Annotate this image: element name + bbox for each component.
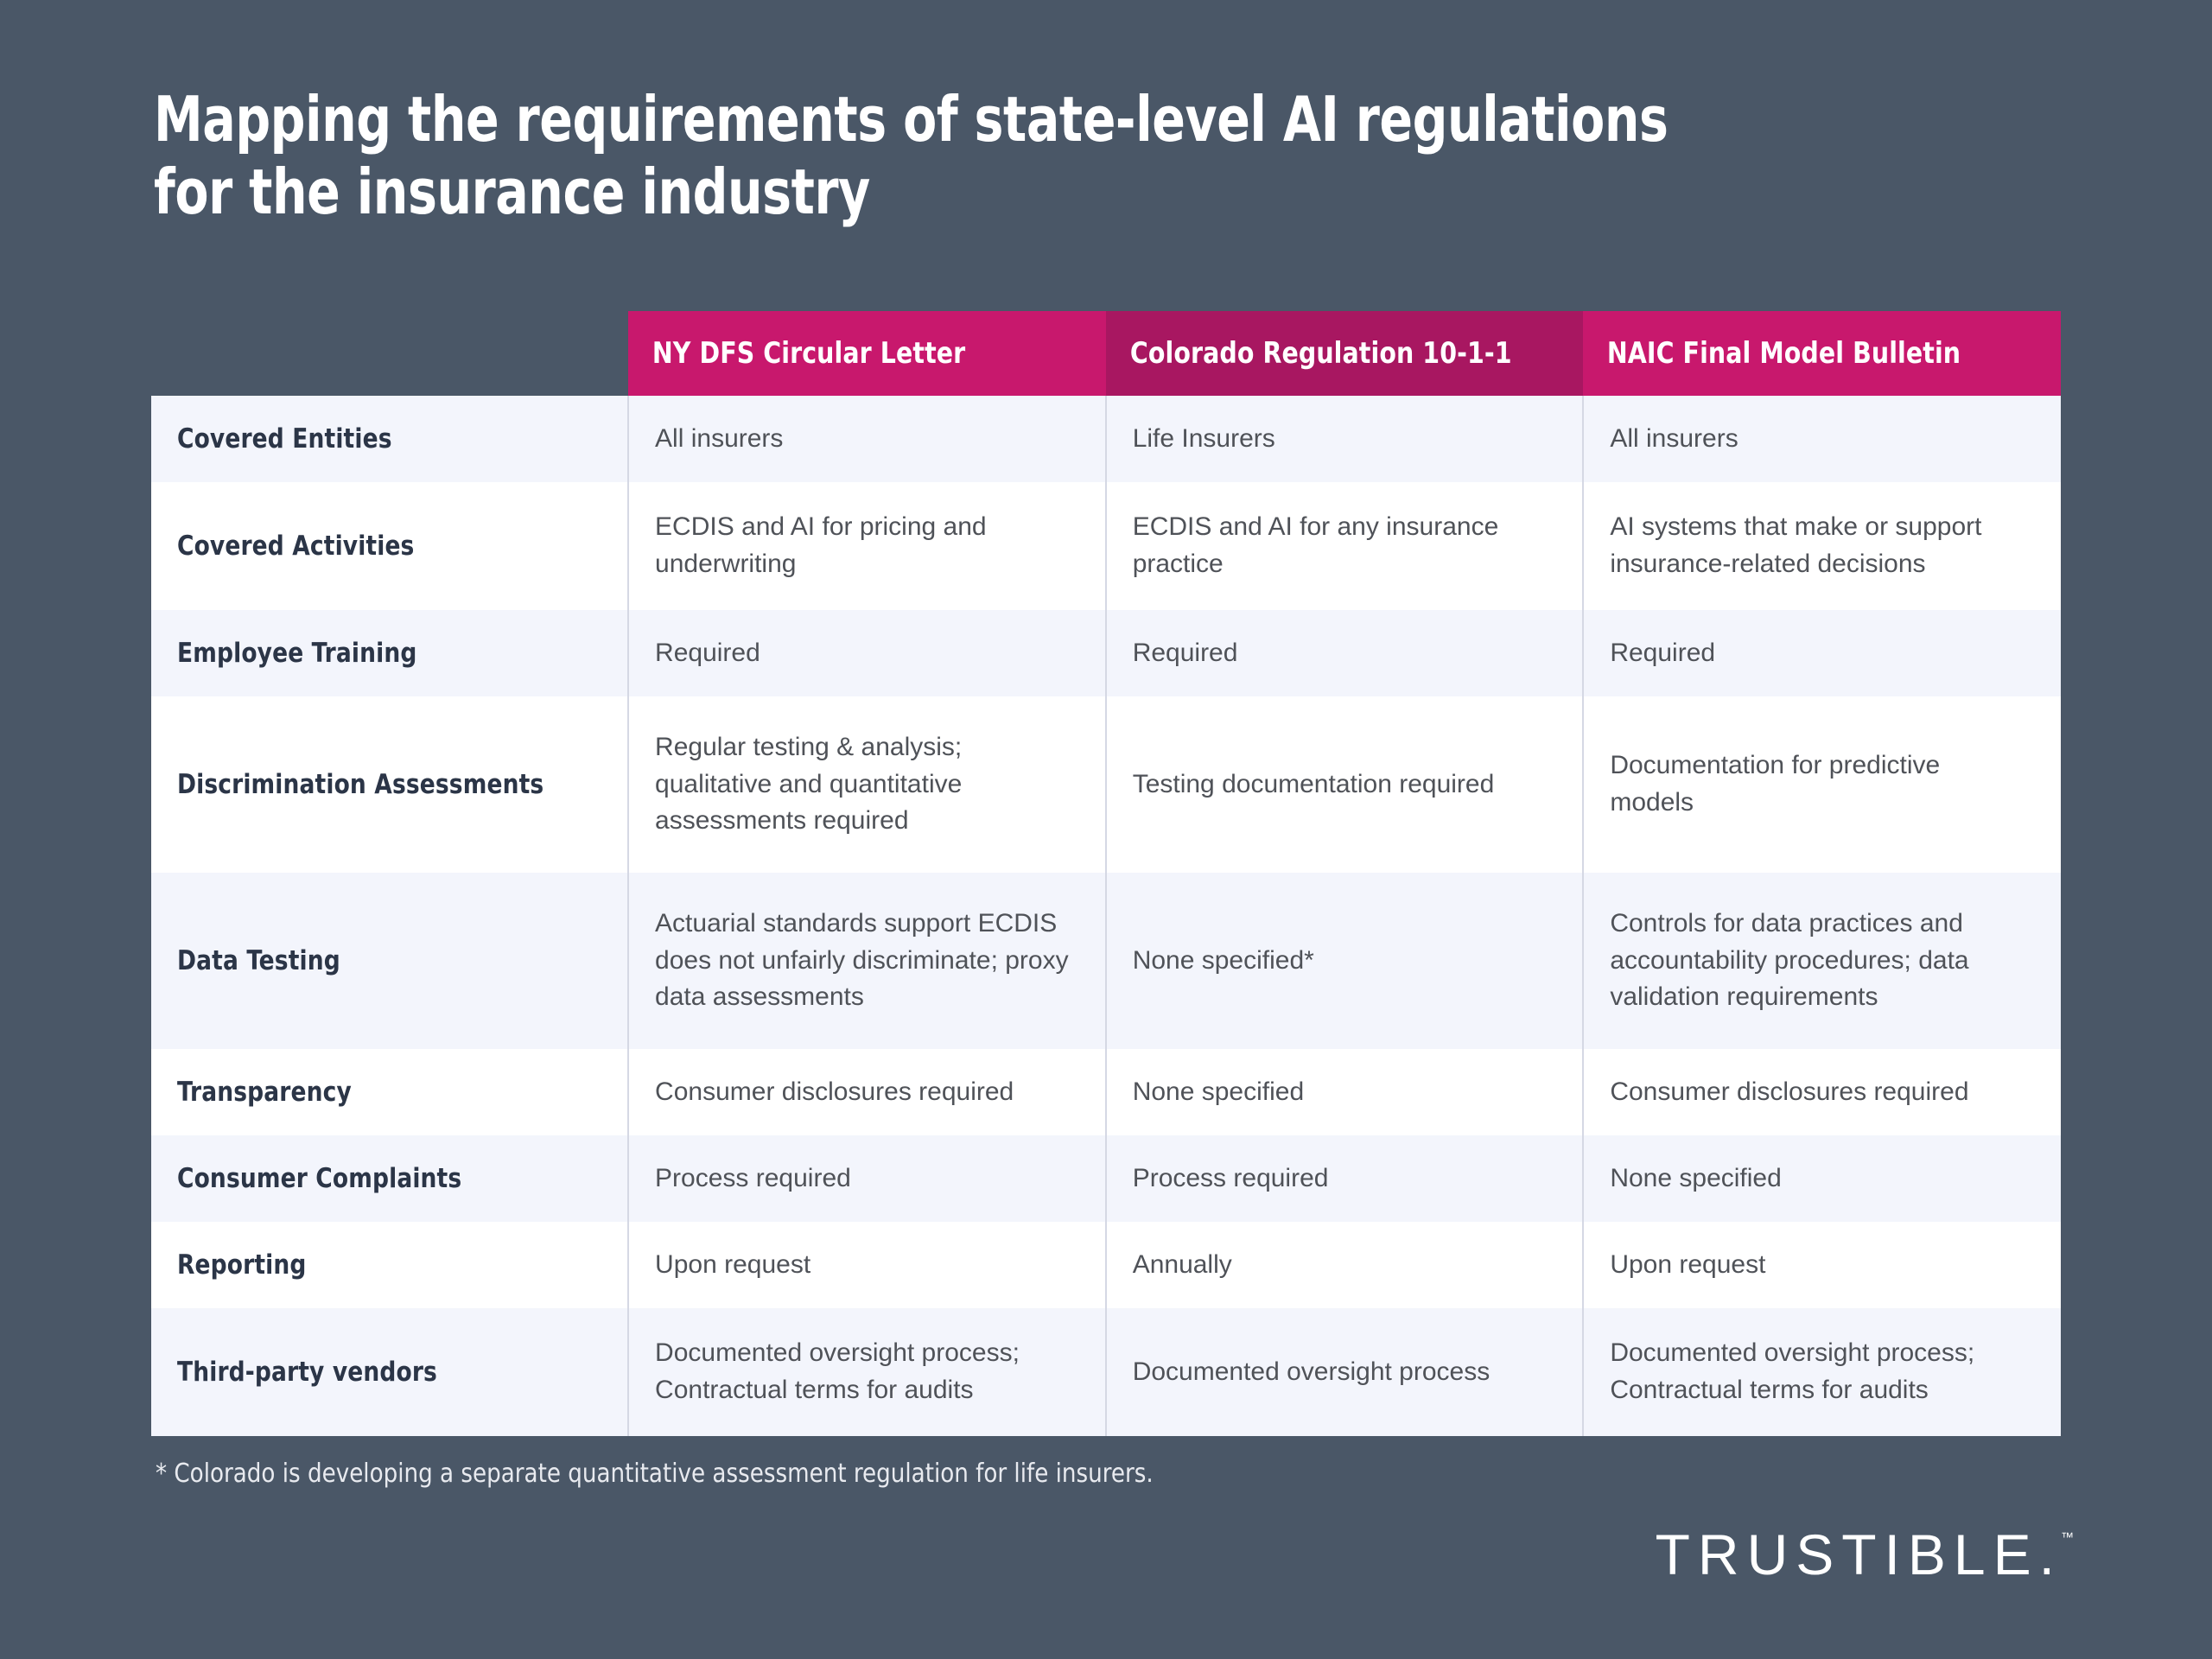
trademark-symbol: ™ [2061, 1531, 2074, 1544]
table-row: Reporting Upon request Annually Upon req… [151, 1222, 2061, 1308]
row-label-third-party-vendors: Third-party vendors [151, 1308, 628, 1436]
row-label-reporting: Reporting [151, 1222, 628, 1308]
cell-covered-entities-naic: All insurers [1583, 396, 2061, 482]
cell-third-party-vendors-colorado: Documented oversight process [1106, 1308, 1584, 1436]
cell-employee-training-colorado: Required [1106, 610, 1584, 696]
comparison-table-container: NY DFS Circular Letter Colorado Regulati… [151, 311, 2061, 1436]
cell-covered-entities-ny-dfs: All insurers [628, 396, 1106, 482]
cell-reporting-ny-dfs: Upon request [628, 1222, 1106, 1308]
column-header-naic: NAIC Final Model Bulletin [1583, 311, 2061, 396]
table-row: Data Testing Actuarial standards support… [151, 873, 2061, 1049]
cell-employee-training-ny-dfs: Required [628, 610, 1106, 696]
cell-discrimination-assessments-colorado: Testing documentation required [1106, 696, 1584, 873]
cell-consumer-complaints-colorado: Process required [1106, 1135, 1584, 1222]
row-label-transparency: Transparency [151, 1049, 628, 1135]
cell-reporting-colorado: Annually [1106, 1222, 1584, 1308]
page-title-line-1: Mapping the requirements of state-level … [154, 83, 1789, 156]
column-header-colorado-label: Colorado Regulation 10-1-1 [1106, 336, 1550, 371]
cell-discrimination-assessments-ny-dfs: Regular testing & analysis; qualitative … [628, 696, 1106, 873]
cell-transparency-naic: Consumer disclosures required [1583, 1049, 2061, 1135]
row-label-covered-activities: Covered Activities [151, 482, 628, 610]
table-row: Third-party vendors Documented oversight… [151, 1308, 2061, 1436]
column-header-colorado: Colorado Regulation 10-1-1 [1106, 311, 1584, 396]
table-row: Discrimination Assessments Regular testi… [151, 696, 2061, 873]
page-title: Mapping the requirements of state-level … [154, 83, 2012, 228]
row-label-data-testing: Data Testing [151, 873, 628, 1049]
table-row: Transparency Consumer disclosures requir… [151, 1049, 2061, 1135]
table-corner-cell [151, 311, 628, 396]
cell-covered-activities-naic: AI systems that make or support insuranc… [1583, 482, 2061, 610]
row-label-discrimination-assessments: Discrimination Assessments [151, 696, 628, 873]
cell-data-testing-ny-dfs: Actuarial standards support ECDIS does n… [628, 873, 1106, 1049]
column-header-ny-dfs-label: NY DFS Circular Letter [628, 336, 1072, 371]
trustible-logo-wordmark: TRUSTIBLE. [1656, 1526, 2063, 1583]
column-header-naic-label: NAIC Final Model Bulletin [1583, 336, 2027, 371]
row-label-covered-entities: Covered Entities [151, 396, 628, 482]
cell-reporting-naic: Upon request [1583, 1222, 2061, 1308]
row-label-employee-training: Employee Training [151, 610, 628, 696]
cell-transparency-ny-dfs: Consumer disclosures required [628, 1049, 1106, 1135]
row-label-consumer-complaints: Consumer Complaints [151, 1135, 628, 1222]
cell-third-party-vendors-ny-dfs: Documented oversight process; Contractua… [628, 1308, 1106, 1436]
cell-covered-entities-colorado: Life Insurers [1106, 396, 1584, 482]
cell-data-testing-colorado: None specified* [1106, 873, 1584, 1049]
table-body: Covered Entities All insurers Life Insur… [151, 396, 2061, 1436]
cell-transparency-colorado: None specified [1106, 1049, 1584, 1135]
cell-employee-training-naic: Required [1583, 610, 2061, 696]
table-header: NY DFS Circular Letter Colorado Regulati… [151, 311, 2061, 396]
table-header-row: NY DFS Circular Letter Colorado Regulati… [151, 311, 2061, 396]
footnote: * Colorado is developing a separate quan… [156, 1459, 1154, 1489]
table-row: Covered Entities All insurers Life Insur… [151, 396, 2061, 482]
table-row: Employee Training Required Required Requ… [151, 610, 2061, 696]
page-title-line-2: for the insurance industry [154, 156, 1789, 228]
cell-consumer-complaints-ny-dfs: Process required [628, 1135, 1106, 1222]
cell-data-testing-naic: Controls for data practices and accounta… [1583, 873, 2061, 1049]
regulation-comparison-table: NY DFS Circular Letter Colorado Regulati… [151, 311, 2061, 1436]
table-row: Consumer Complaints Process required Pro… [151, 1135, 2061, 1222]
column-header-ny-dfs: NY DFS Circular Letter [628, 311, 1106, 396]
cell-covered-activities-colorado: ECDIS and AI for any insurance practice [1106, 482, 1584, 610]
cell-consumer-complaints-naic: None specified [1583, 1135, 2061, 1222]
cell-covered-activities-ny-dfs: ECDIS and AI for pricing and underwritin… [628, 482, 1106, 610]
trustible-logo: TRUSTIBLE. ™ [1656, 1526, 2074, 1583]
table-row: Covered Activities ECDIS and AI for pric… [151, 482, 2061, 610]
cell-discrimination-assessments-naic: Documentation for predictive models [1583, 696, 2061, 873]
cell-third-party-vendors-naic: Documented oversight process; Contractua… [1583, 1308, 2061, 1436]
